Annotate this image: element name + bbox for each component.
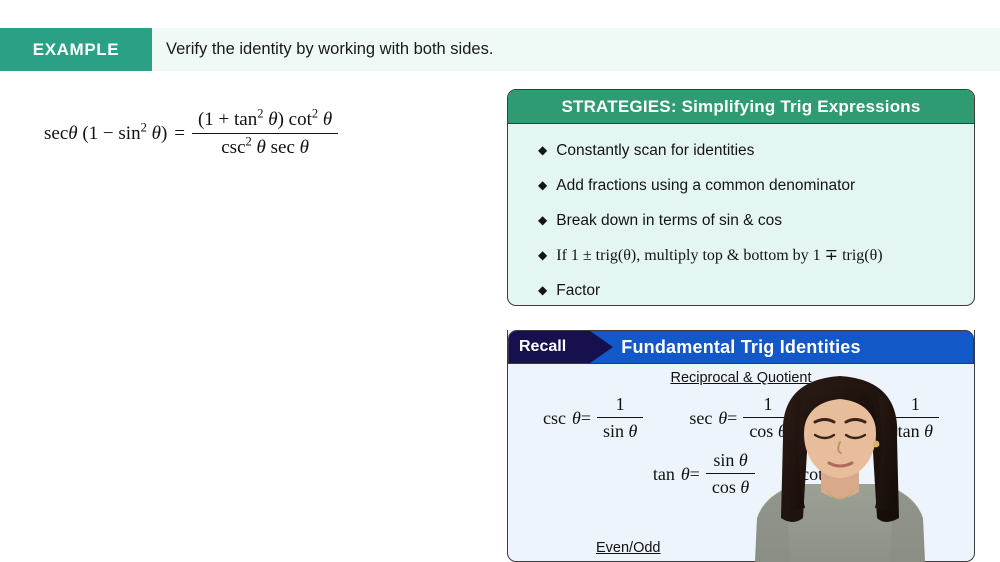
identity-equals: = bbox=[876, 408, 892, 429]
identity-numerator: 1 bbox=[905, 394, 926, 417]
identity-fraction: 1 cos θ bbox=[743, 394, 792, 442]
lhs-close: ) bbox=[161, 123, 167, 144]
numerator-exponent-2: 2 bbox=[312, 107, 318, 121]
diamond-bullet-icon: ◆ bbox=[538, 203, 547, 238]
identity-lhs: cot bbox=[801, 464, 829, 485]
equation-right-side-fraction: (1 + tan2 θ) cot2 θ csc2 θ sec θ bbox=[192, 109, 338, 159]
strategy-text: Constantly scan for identities bbox=[556, 133, 754, 168]
list-item: ◆ If 1 ± trig(θ), multiply top & bottom … bbox=[508, 238, 974, 273]
equation-equals-sign: = bbox=[174, 123, 192, 145]
numerator-part-a: (1 + tan bbox=[198, 109, 257, 130]
identity-numerator: 1 bbox=[757, 394, 778, 417]
diamond-bullet-icon: ◆ bbox=[538, 168, 547, 203]
recall-tab: Recall bbox=[509, 331, 613, 363]
identity-lhs: tan bbox=[653, 464, 681, 485]
list-item: ◆ Add fractions using a common denominat… bbox=[508, 168, 974, 203]
identity-denominator: cos θ bbox=[743, 417, 792, 442]
section-label-even-odd: Even/Odd bbox=[596, 540, 661, 556]
strategies-panel-header: STRATEGIES: Simplifying Trig Expressions bbox=[508, 90, 974, 124]
recall-body: Reciprocal & Quotient cscθ = 1 sin θ sec… bbox=[508, 364, 974, 560]
list-item: ◆ Factor bbox=[508, 273, 974, 306]
identity-lhs-theta: θ bbox=[681, 464, 690, 485]
denominator-theta-1: θ bbox=[257, 137, 266, 158]
identity-lhs-theta: θ bbox=[867, 408, 876, 429]
identity-fraction: 1 tan θ bbox=[892, 394, 939, 442]
identity-equals: = bbox=[690, 464, 706, 485]
strategy-text: Break down in terms of sin & cos bbox=[556, 203, 782, 238]
numerator-theta-1: θ bbox=[268, 109, 277, 130]
lhs-theta-2: θ bbox=[152, 123, 161, 144]
strategy-text: Factor bbox=[556, 273, 600, 306]
identity-den-theta: θ bbox=[740, 477, 749, 497]
strategies-panel: STRATEGIES: Simplifying Trig Expressions… bbox=[507, 89, 975, 306]
identity-den-theta: θ bbox=[778, 421, 787, 441]
numerator-theta-2: θ bbox=[323, 109, 332, 130]
identity-num-fn: sin bbox=[713, 450, 734, 470]
identity-cot-quotient: cot bbox=[801, 464, 829, 485]
identity-num-theta: θ bbox=[739, 450, 748, 470]
list-item: ◆ Constantly scan for identities bbox=[508, 133, 974, 168]
identity-numerator: 1 bbox=[610, 394, 631, 417]
identity-lhs: cot bbox=[839, 408, 867, 429]
recall-panel-header: Recall Fundamental Trig Identities bbox=[508, 330, 974, 364]
recall-title: Fundamental Trig Identities bbox=[621, 337, 860, 358]
identity-denominator: sin θ bbox=[597, 417, 643, 442]
strategies-header-text: STRATEGIES: Simplifying Trig Expressions bbox=[561, 97, 920, 117]
work-area: secθ (1 − sin2 θ) = (1 + tan2 θ) cot2 θ … bbox=[0, 71, 500, 562]
identity-numerator: sin θ bbox=[707, 450, 753, 473]
identity-den-theta: θ bbox=[924, 421, 933, 441]
identity-den-fn: sin bbox=[603, 421, 624, 441]
identity-cot-reciprocal: cotθ = 1 tan θ bbox=[839, 394, 939, 442]
identity-den-fn: tan bbox=[898, 421, 920, 441]
identity-sec: secθ = 1 cos θ bbox=[689, 394, 792, 442]
identity-fraction: sin θ cos θ bbox=[706, 450, 755, 498]
section-label-reciprocal-quotient: Reciprocal & Quotient bbox=[508, 364, 974, 386]
example-tag: EXAMPLE bbox=[0, 28, 152, 71]
fraction-denominator: csc2 θ sec θ bbox=[192, 133, 338, 159]
identity-lhs-theta: θ bbox=[572, 408, 581, 429]
example-tag-label: EXAMPLE bbox=[33, 40, 119, 60]
identity-csc: cscθ = 1 sin θ bbox=[543, 394, 643, 442]
strategies-list: ◆ Constantly scan for identities ◆ Add f… bbox=[508, 124, 974, 306]
identity-denominator: cos θ bbox=[706, 473, 755, 498]
identity-row-2: tanθ = sin θ cos θ cot bbox=[508, 450, 974, 498]
diamond-bullet-icon: ◆ bbox=[538, 273, 547, 306]
identity-equals: = bbox=[727, 408, 743, 429]
strategy-text: Add fractions using a common denominator bbox=[556, 168, 855, 203]
lhs-open: (1 − sin bbox=[82, 123, 140, 144]
example-prompt-text: Verify the identity by working with both… bbox=[166, 40, 493, 59]
problem-equation: secθ (1 − sin2 θ) = (1 + tan2 θ) cot2 θ … bbox=[44, 109, 338, 159]
equation-left-side: secθ (1 − sin2 θ) bbox=[44, 123, 174, 145]
lhs-sec: sec bbox=[44, 123, 68, 144]
identity-lhs: csc bbox=[543, 408, 572, 429]
identity-equals: = bbox=[581, 408, 597, 429]
identity-den-theta: θ bbox=[628, 421, 637, 441]
identity-den-fn: cos bbox=[749, 421, 773, 441]
identity-tan-quotient: tanθ = sin θ cos θ bbox=[653, 450, 755, 498]
denominator-part-a: csc bbox=[221, 137, 245, 158]
identity-den-fn: cos bbox=[712, 477, 736, 497]
list-item: ◆ Break down in terms of sin & cos bbox=[508, 203, 974, 238]
example-banner: EXAMPLE Verify the identity by working w… bbox=[0, 28, 1000, 71]
fraction-numerator: (1 + tan2 θ) cot2 θ bbox=[192, 109, 338, 133]
diamond-bullet-icon: ◆ bbox=[538, 238, 547, 273]
numerator-exponent-1: 2 bbox=[257, 107, 263, 121]
lhs-exponent: 2 bbox=[141, 121, 147, 135]
denominator-theta-2: θ bbox=[300, 137, 309, 158]
identity-lhs-theta: θ bbox=[718, 408, 727, 429]
recall-panel: Recall Fundamental Trig Identities Recip… bbox=[507, 330, 975, 562]
example-prompt: Verify the identity by working with both… bbox=[152, 28, 1000, 71]
strategy-text: If 1 ± trig(θ), multiply top & bottom by… bbox=[556, 238, 882, 273]
numerator-part-b: ) cot bbox=[278, 109, 312, 130]
denominator-exponent: 2 bbox=[246, 135, 252, 149]
denominator-part-b: sec bbox=[271, 137, 295, 158]
identity-denominator: tan θ bbox=[892, 417, 939, 442]
diamond-bullet-icon: ◆ bbox=[538, 133, 547, 168]
identity-fraction: 1 sin θ bbox=[597, 394, 643, 442]
identity-row-1: cscθ = 1 sin θ secθ = 1 cos θ cotθ = bbox=[508, 394, 974, 442]
lhs-theta: θ bbox=[68, 123, 77, 144]
recall-tab-label: Recall bbox=[519, 338, 566, 356]
identity-lhs: sec bbox=[689, 408, 718, 429]
